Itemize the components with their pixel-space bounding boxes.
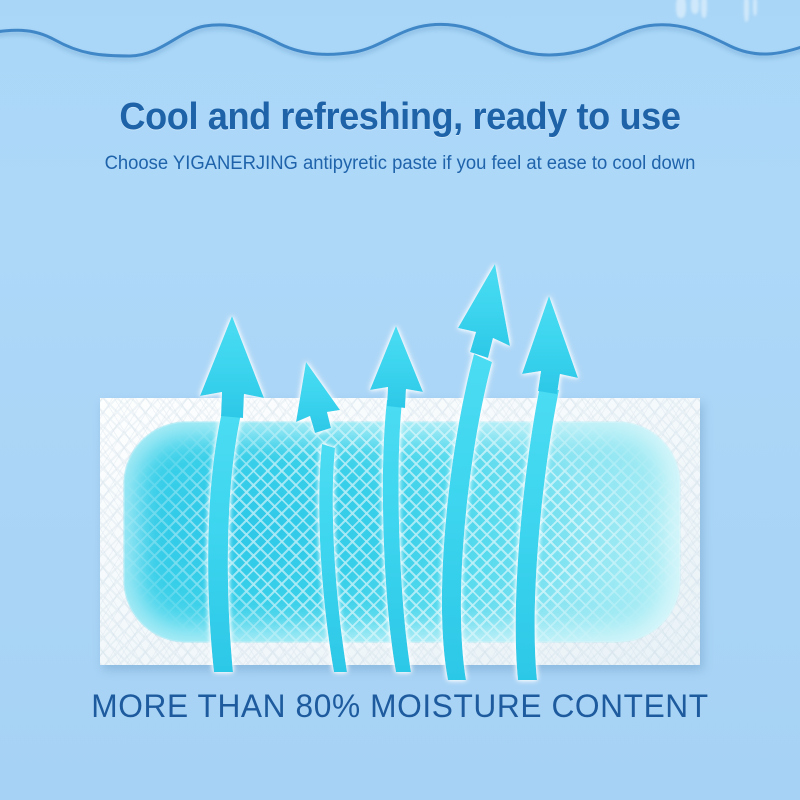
bleed-artifact — [676, 0, 686, 18]
bottom-caption: MORE THAN 80% MOISTURE CONTENT — [4, 688, 796, 725]
bleed-artifact — [691, 0, 699, 14]
bleed-artifact — [701, 0, 707, 18]
page-title: Cool and refreshing, ready to use — [20, 96, 780, 139]
bleed-artifact — [753, 0, 757, 16]
product-poster: Cool and refreshing, ready to use Choose… — [0, 0, 800, 800]
cooling-gel-patch — [100, 398, 700, 665]
page-subtitle: Choose YIGANERJING antipyretic paste if … — [12, 153, 788, 175]
gel-soft-edge — [124, 422, 680, 642]
headline-block: Cool and refreshing, ready to use Choose… — [0, 96, 800, 175]
wave-line-icon — [0, 24, 800, 56]
bleed-artifact — [744, 0, 749, 22]
